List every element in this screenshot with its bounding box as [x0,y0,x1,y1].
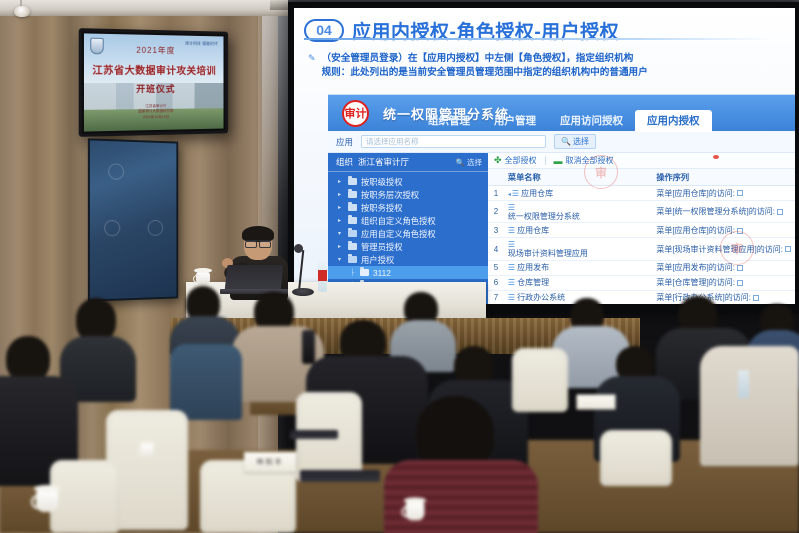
tree-branch-icon: ├ [350,267,356,279]
app-header: 审计 统一权限管理分系统 组织管理 用户管理 应用访问授权 应用内授权 [328,95,795,131]
tree-item-label-0: 按职级授权 [361,176,403,188]
folder-icon [348,178,357,185]
row-op-label-1: 菜单[应用仓库]的访问: [656,189,735,198]
tv-banner-title: 江苏省大数据审计攻关培训 [84,61,224,77]
row-index-4: 4 [488,238,504,260]
tree-item-label-4: 应用自定义角色授权 [361,228,436,240]
tv-screen: 审计科技 赋能时代 2021年度 江苏省大数据审计攻关培训 开班仪式 江苏省审计… [84,33,224,131]
table-action-bar: ✤ 全部授权 ▬ 取消全部授权 [488,153,795,169]
menu-list-icon: ☰ [508,263,515,272]
tv-banner-footer: 江苏省审计厅 国家审计大数据研究院 2021年12月14日 [84,103,224,121]
tree-item-1[interactable]: ▸ 按职务层次授权 [328,188,488,201]
name-placard: 林知丰 [244,452,296,472]
presenter-laptop [225,265,284,291]
row-index-5: 5 [488,260,504,275]
bullet-text-1: （安全管理员登录）在【应用内授权】中左侧【角色授权】，指定组织机构 [322,52,634,66]
row-name-label-5: 应用发布 [517,263,549,272]
table-head: 菜单名称 操作序列 [488,169,795,186]
tv-banner-texts: 2021年度 江苏省大数据审计攻关培训 开班仪式 [84,44,224,96]
row-name-label-3: 应用仓库 [517,226,549,235]
door-seal-a [108,163,124,179]
row-op-label-3: 菜单[应用仓库]的访问: [656,226,735,235]
tree-item-7[interactable]: ├ 3112 [328,266,488,279]
action-divider [545,156,546,165]
name-placard-2 [577,395,616,410]
tree-item-label-1: 按职务层次授权 [361,189,419,201]
audience-area: 林知丰 [0,300,799,533]
col-menu-name: 菜单名称 [504,169,652,186]
row-index-1: 1 [488,186,504,201]
tree-item-label-7: 3112 [373,267,391,279]
nav-item-org-management[interactable]: 组织管理 [416,110,482,132]
folder-open-icon [348,256,357,263]
microphone-base [292,288,314,296]
audience-laptop [300,470,380,482]
tree-item-label-2: 按职务授权 [361,202,403,214]
slide-header: 04 应用内授权-角色授权-用户授权 [294,14,795,46]
row-name-1: ◂☰应用仓库 [504,186,652,201]
app-nav: 组织管理 用户管理 应用访问授权 应用内授权 [416,110,712,132]
table-row[interactable]: 1 ◂☰应用仓库 菜单[应用仓库]的访问: [488,186,795,201]
audit-seal-icon: 审计 [342,100,369,127]
bullet-text-2: 规则：此处列出的是当前安全管理员管理范围中指定的组织机构中的普通用户 [322,66,648,80]
slide-title-rule [304,38,774,40]
row-name-label-2: 统一权限管理分系统 [508,212,648,221]
search-icon-org: 🔍 [456,158,465,167]
tree-item-3[interactable]: ▸ 组织自定义角色授权 [328,214,488,227]
tea-cup-lid [34,485,60,492]
access-checkbox[interactable] [777,209,783,215]
app-toolbar: 应用 请选择应用名称 🔍 选择 [328,131,795,153]
row-name-label-1: 应用仓库 [521,189,553,198]
tea-cup-lid [194,268,212,273]
folder-icon [348,191,357,198]
row-op-label-2: 菜单[统一权限管理分系统]的访问: [656,207,775,216]
glasses-icon [245,240,271,245]
row-op-4: 菜单[现场审计资料管理应用]的访问: [652,238,795,260]
audience-water-bottle [738,370,749,398]
row-op-3: 菜单[应用仓库]的访问: [652,223,795,238]
person-jacket [170,344,242,420]
table-row[interactable]: 3 ☰应用仓库 菜单[应用仓库]的访问: [488,223,795,238]
door-seal-c [148,220,163,236]
row-index-2: 2 [488,201,504,223]
menu-list-icon: ☰ [508,203,646,212]
microphone-icon [294,244,303,253]
bottle-label [318,270,327,281]
folder-icon [348,204,357,211]
expand-toggle-icon[interactable]: ▸ [338,202,344,214]
row-name-4: ☰ 现场审计资料管理应用 [504,238,652,260]
plus-icon: ✤ [494,155,502,166]
collapse-toggle-icon[interactable]: ▾ [338,228,344,240]
app-select-button[interactable]: 🔍 选择 [554,134,596,149]
caret-icon[interactable]: ◂ [508,192,511,198]
tree-item-label-5: 管理员授权 [361,241,403,253]
row-name-2: ☰ 统一权限管理分系统 [504,201,652,223]
col-operation: 操作序列 [652,169,795,186]
app-select-button-label: 选择 [573,136,589,147]
tea-cup [36,490,58,512]
tree-item-6[interactable]: ▾ 用户授权 [328,253,488,266]
access-checkbox[interactable] [737,190,743,196]
access-checkbox[interactable] [785,246,791,252]
table-row[interactable]: 4 ☰ 现场审计资料管理应用 菜单[现场审计资料管理应用]的访问: [488,238,795,260]
menu-list-icon: ☰ [508,226,515,235]
tree-item-2[interactable]: ▸ 按职务授权 [328,201,488,214]
table-row[interactable]: 2 ☰ 统一权限管理分系统 菜单[统一权限管理分系统]的访问: [488,201,795,223]
access-checkbox[interactable] [737,228,743,234]
table-row[interactable]: 6 ☰仓库管理 菜单[仓库管理]的访问: [488,275,795,290]
chair [600,430,672,486]
org-tree-header: 组织 浙江省审计厅 🔍 选择 [328,156,488,172]
tea-cup-lid [139,441,155,445]
grant-all-button[interactable]: ✤ 全部授权 [494,155,537,166]
water-bottle [318,258,327,292]
menu-list-icon: ☰ [508,240,646,249]
row-op-6: 菜单[仓库管理]的访问: [652,275,795,290]
row-name-6: ☰仓库管理 [504,275,652,290]
row-name-wrap-4: ☰ 现场审计资料管理应用 [508,240,648,258]
person-striped-shirt [384,460,538,533]
leaf-icon [360,269,369,276]
tea-cup-lid [404,497,426,503]
folder-icon [348,217,357,224]
nav-item-in-app-auth[interactable]: 应用内授权 [635,110,712,132]
slide-bullets: ✎ （安全管理员登录）在【应用内授权】中左侧【角色授权】，指定组织机构 ✎ 规则… [294,46,795,81]
row-index-3: 3 [488,223,504,238]
audience-laptop-2 [290,430,338,439]
folder-open-icon [348,230,357,237]
table-header-row: 菜单名称 操作序列 [488,169,795,186]
tree-item-5[interactable]: ▸ 管理员授权 [328,240,488,253]
row-name-5: ☰应用发布 [504,260,652,275]
minus-icon: ▬ [554,156,563,166]
row-name-wrap-2: ☰ 统一权限管理分系统 [508,203,648,221]
collapse-toggle-icon[interactable]: ▾ [338,254,344,266]
expand-toggle-icon[interactable]: ▸ [338,189,344,201]
table-body: 1 ◂☰应用仓库 菜单[应用仓库]的访问: 2 [488,186,795,305]
row-name-label-6: 仓库管理 [517,278,549,287]
embedded-app-window: 审计 统一权限管理分系统 组织管理 用户管理 应用访问授权 应用内授权 应用 请… [328,94,795,304]
row-index-6: 6 [488,275,504,290]
org-value: 浙江省审计厅 [358,156,409,168]
expand-toggle-icon[interactable]: ▸ [338,241,344,253]
row-name-3: ☰应用仓库 [504,223,652,238]
wall-mounted-tv: 审计科技 赋能时代 2021年度 江苏省大数据审计攻关培训 开班仪式 江苏省审计… [79,28,228,137]
nav-item-app-access-auth[interactable]: 应用访问授权 [548,110,635,132]
wall-panel-door [88,138,178,301]
pencil-icon: ✎ [308,52,316,65]
org-select-label: 选择 [467,158,482,167]
row-op-2: 菜单[统一权限管理分系统]的访问: [652,201,795,223]
bullet-row-1: ✎ （安全管理员登录）在【应用内授权】中左侧【角色授权】，指定组织机构 [308,52,787,66]
slide-canvas: 04 应用内授权-角色授权-用户授权 ✎ （安全管理员登录）在【应用内授权】中左… [294,8,795,304]
org-select-button[interactable]: 🔍 选择 [456,157,482,168]
tea-cup [140,444,153,457]
person-puffer-jacket [700,346,799,466]
menu-permission-panel: ✤ 全部授权 ▬ 取消全部授权 [488,153,795,304]
tree-item-label-6: 用户授权 [361,254,394,266]
notification-dot-icon [713,155,719,159]
bullet-row-2: ✎ 规则：此处列出的是当前安全管理员管理范围中指定的组织机构中的普通用户 [308,66,787,80]
chair [512,348,568,412]
tea-cup [406,502,425,521]
row-name-label-4: 现场审计资料管理应用 [508,249,648,258]
revoke-all-button[interactable]: ▬ 取消全部授权 [554,155,614,166]
col-index [488,169,504,186]
row-op-label-4: 菜单[现场审计资料管理应用]的访问: [656,245,783,254]
app-select-input[interactable]: 请选择应用名称 [361,135,546,148]
expand-toggle-icon[interactable]: ▸ [338,215,344,227]
tea-cup-head-table [196,272,210,285]
tree-item-4[interactable]: ▾ 应用自定义角色授权 [328,227,488,240]
search-icon: 🔍 [561,137,571,146]
ceiling-lamp-icon [14,6,30,17]
row-op-label-5: 菜单[应用发布]的访问: [656,263,735,272]
grant-all-label: 全部授权 [505,155,537,166]
revoke-all-label: 取消全部授权 [566,155,614,166]
row-op-5: 菜单[应用发布]的访问: [652,260,795,275]
folder-icon [348,243,357,250]
menu-list-icon: ☰ [508,278,515,287]
tv-banner-subtitle: 开班仪式 [84,82,224,95]
nav-item-user-management[interactable]: 用户管理 [482,110,548,132]
tree-item-label-3: 组织自定义角色授权 [361,215,436,227]
thermos-flask [302,330,315,364]
tree-item-0[interactable]: ▸ 按职级授权 [328,175,488,188]
menu-list-icon: ☰ [512,189,519,198]
tv-banner-year: 2021年度 [84,44,224,57]
expand-toggle-icon[interactable]: ▸ [338,176,344,188]
row-op-label-6: 菜单[仓库管理]的访问: [656,278,735,287]
org-label: 组织 [336,156,353,168]
row-op-1: 菜单[应用仓库]的访问: [652,186,795,201]
projection-screen: 04 应用内授权-角色授权-用户授权 ✎ （安全管理员登录）在【应用内授权】中左… [288,2,799,314]
menu-permission-table: 菜单名称 操作序列 1 ◂☰应用仓库 [488,169,795,304]
door-seal-b [104,220,120,236]
access-checkbox[interactable] [737,280,743,286]
screenshot-root: 审计科技 赋能时代 2021年度 江苏省大数据审计攻关培训 开班仪式 江苏省审计… [0,0,799,533]
access-checkbox[interactable] [737,265,743,271]
app-field-label: 应用 [336,136,353,148]
chair [50,460,120,533]
table-row[interactable]: 5 ☰应用发布 菜单[应用发布]的访问: [488,260,795,275]
